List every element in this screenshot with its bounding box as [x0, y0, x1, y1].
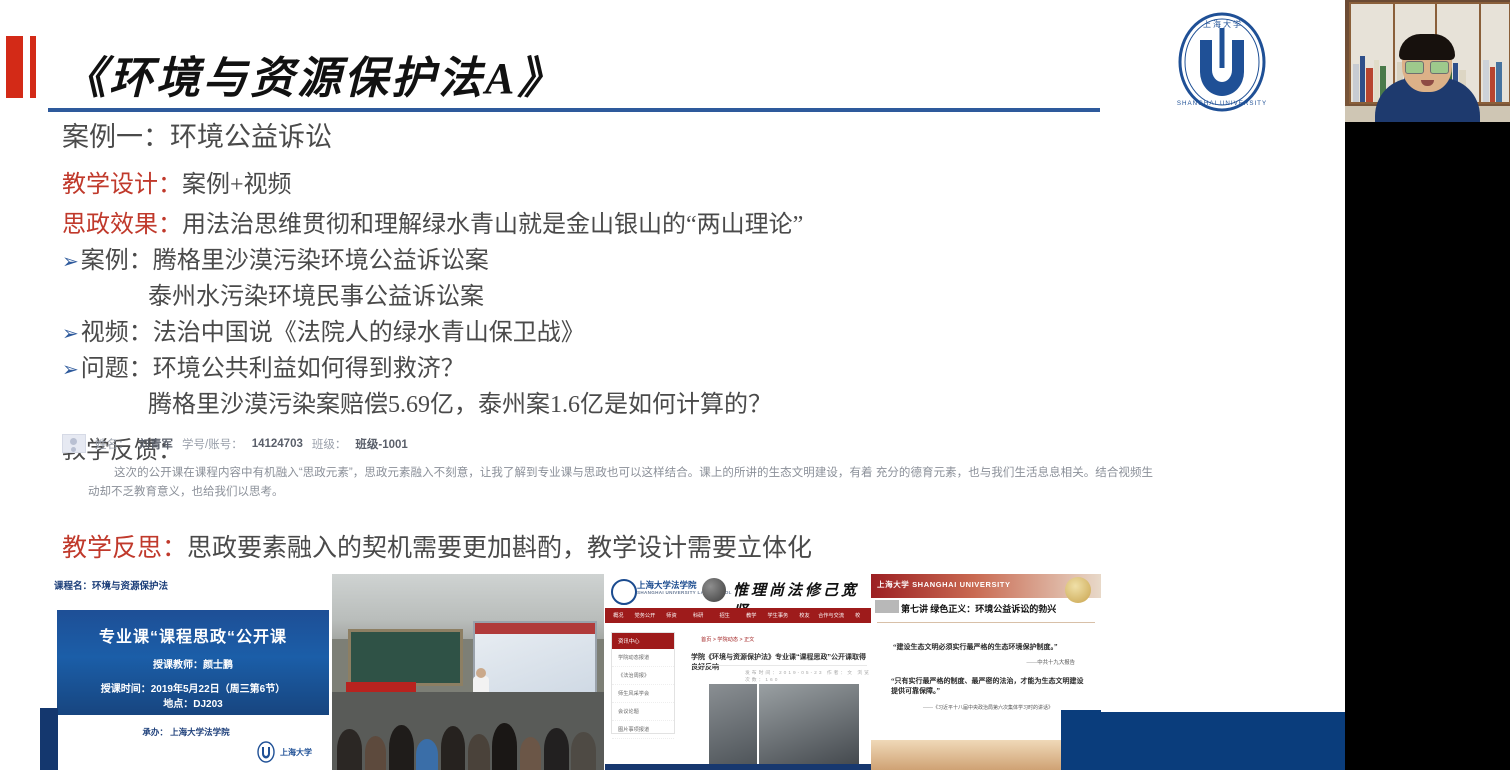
sidebar-item[interactable]: 师生风采学会 [612, 685, 674, 703]
webpage-article-photo-1 [709, 684, 757, 766]
nav-item[interactable]: 概况 [605, 612, 632, 619]
open-class-poster: 课程名：环境与资源保护法 专业课“课程思政“公开课 授课教师：颜士鹏 授课时间：… [40, 568, 332, 770]
bullet-video-label: 视频： [81, 320, 153, 346]
accent-bar-thick [6, 36, 23, 98]
presenter-video-feed[interactable] [1345, 0, 1510, 122]
poster-course-label: 课程名：环境与资源保护法 [54, 578, 168, 592]
student-id: 14124703 [252, 438, 303, 450]
student-name: 刘青军 [139, 436, 174, 452]
arrow-bullet-icon-3: ➢ [62, 359, 79, 381]
bullet-question-second-text: 腾格里沙漠污染案赔偿5.69亿，泰州案1.6亿是如何计算的？ [148, 392, 772, 418]
case-heading: 案例一：环境公益诉讼 [62, 124, 1292, 151]
student-avatar-icon [62, 434, 86, 453]
photo-screen-header [475, 623, 595, 634]
lecture-slide-quote-2: “只有实行最严格的制度、最严密的法治，才能为生态文明建设提供可靠保障。” [891, 676, 1089, 696]
photo-projector-screen [473, 621, 597, 696]
bullet-case-second: 泰州水污染环境民事公益诉讼案 [62, 285, 1292, 309]
lecture-slide-title: 第七讲 绿色正义：环境公益诉讼的勃兴 [901, 602, 1056, 615]
bullet-case-label: 案例： [81, 248, 153, 274]
svg-text:SHANGHAI UNIVERSITY: SHANGHAI UNIVERSITY [1177, 100, 1267, 107]
presentation-slide: 《环境与资源保护法A》 上 海 大 学 SHANGHAI UNIVERSITY … [0, 0, 1345, 770]
slide-title: 《环境与资源保护法A》 [62, 42, 564, 106]
nav-item[interactable]: 学生事务 [765, 612, 792, 619]
bullet-case-text: 腾格里沙漠污染环境公益诉讼案 [153, 248, 489, 274]
design-text: 案例+视频 [182, 172, 292, 198]
effect-text: 用法治思维贯彻和理解绿水青山就是金山银山的“两山理论” [182, 212, 803, 238]
webpage-article-photo-2 [759, 684, 859, 766]
poster-place: 地点：DJ203 [57, 695, 329, 710]
arrow-bullet-icon-2: ➢ [62, 323, 79, 345]
webpage-article-meta: 发布时间：2019-05-23 作者：文 浏览次数：160 [745, 669, 871, 683]
bullet-case-second-text: 泰州水污染环境民事公益诉讼案 [148, 284, 484, 310]
effect-line: 思政效果：用法治思维贯彻和理解绿水青山就是金山银山的“两山理论” [62, 213, 1292, 237]
svg-text:上 海 大 学: 上 海 大 学 [1203, 19, 1241, 29]
webpage-breadcrumb: 首页 > 学院动态 > 正文 [701, 636, 754, 643]
webpage-article-divider [691, 665, 867, 666]
class-label: 班级： [312, 436, 347, 452]
poster-headline: 专业课“课程思政“公开课 [57, 623, 329, 647]
nav-item[interactable]: 科研 [685, 612, 712, 619]
name-label: 姓名： [95, 436, 130, 452]
photo-blackboard [348, 629, 463, 686]
design-label: 教学设计： [62, 172, 182, 198]
lecture-slide-quote-2-source: ——《习近平十八届中央政治局第六次集体学习时的讲话》 [923, 704, 1053, 711]
effect-label: 思政效果： [62, 212, 182, 238]
student-info-row: 姓名： 刘青军 学号/账号： 14124703 班级： 班级-1001 [62, 434, 1192, 453]
sidebar-title: 资讯中心 [612, 633, 674, 649]
presenter-hair [1399, 34, 1455, 60]
webcam-panel [1345, 0, 1510, 770]
poster-university-logo: 上海大学 [256, 740, 318, 764]
sidebar-item[interactable]: 图片事项报道 [612, 721, 674, 739]
bullet-question: ➢问题：环境公共利益如何得到救济？ [62, 357, 1292, 381]
design-line: 教学设计：案例+视频 [62, 173, 1292, 197]
bullet-video: ➢视频：法治中国说《法院人的绿水青山保卫战》 [62, 321, 1292, 345]
sidebar-item[interactable]: 学院动态报道 [612, 649, 674, 667]
sidebar-item[interactable]: 《法治周报》 [612, 667, 674, 685]
slide-body: 案例一：环境公益诉讼 教学设计：案例+视频 思政效果：用法治思维贯彻和理解绿水青… [62, 118, 1292, 463]
nav-item[interactable]: 党务公开 [632, 612, 659, 619]
site-name-cn: 上海大学法学院 [637, 580, 697, 590]
screen: 《环境与资源保护法A》 上 海 大 学 SHANGHAI UNIVERSITY … [0, 0, 1510, 770]
title-divider [48, 108, 1100, 112]
feedback-comment: 这次的公开课在课程内容中有机融入“思政元素”，思政元素融入不刻意，让我了解到专业… [88, 464, 1153, 502]
bullet-question-second: 腾格里沙漠污染案赔偿5.69亿，泰州案1.6亿是如何计算的？ [62, 393, 1292, 417]
nav-item[interactable]: 合作与交流 [818, 612, 845, 619]
photo-audience [332, 692, 604, 770]
poster-host: 承办： 上海大学法学院 [40, 726, 332, 738]
poster-teacher: 授课教师：颜士鹏 [57, 656, 329, 671]
poster-datetime: 授课时间：2019年5月22日（周三第6节） [57, 680, 329, 695]
lecture-slide-quote-1-source: ——中共十九大报告 [1026, 658, 1075, 666]
lecture-slide-title-block [875, 600, 899, 613]
shanghai-university-logo: 上 海 大 学 SHANGHAI UNIVERSITY [1168, 10, 1276, 114]
bullet-case: ➢案例：腾格里沙漠污染环境公益诉讼案 [62, 249, 1292, 273]
lecture-slide-divider [877, 622, 1095, 623]
classroom-photo [332, 574, 604, 770]
nav-item[interactable]: 教学 [738, 612, 765, 619]
arrow-bullet-icon: ➢ [62, 251, 79, 273]
nav-item[interactable]: 校 [844, 612, 871, 619]
nav-item[interactable]: 校友 [791, 612, 818, 619]
bullet-question-label: 问题： [81, 356, 153, 382]
webpage-seal-icon [702, 578, 726, 602]
webpage-footer-band [605, 764, 871, 770]
feedback-comment-line1: 这次的公开课在课程内容中有机融入“思政元素”，思政元素融入不刻意，让我了解到专业… [88, 467, 873, 479]
lecture-slide-thumbnail: 上海大学 SHANGHAI UNIVERSITY 第七讲 绿色正义：环境公益诉讼… [871, 574, 1101, 770]
slide-bottom-blue-band [1101, 712, 1345, 770]
poster-side-band [40, 708, 58, 770]
id-label: 学号/账号： [182, 436, 243, 452]
lecture-slide-seal-icon [1065, 577, 1091, 603]
webpage-logo-icon [611, 579, 637, 605]
webpage-nav[interactable]: 概况 党务公开 师资 科研 招生 教学 学生事务 校友 合作与交流 校 [605, 608, 871, 623]
reflection-label: 教学反思： [62, 535, 187, 562]
title-accent-bars [6, 36, 36, 98]
lecture-slide-quote-1: “建设生态文明必须实行最严格的生态环境保护制度。” [893, 642, 1087, 652]
poster-logo-text: 上海大学 [280, 747, 312, 758]
presenter-glasses-icon [1405, 61, 1449, 72]
lecture-slide-brand: 上海大学 SHANGHAI UNIVERSITY [877, 579, 1011, 590]
nav-item[interactable]: 招生 [711, 612, 738, 619]
webpage-sidebar: 资讯中心 学院动态报道 《法治周报》 师生风采学会 会议论题 图片事项报道 [611, 632, 675, 734]
reflection-line: 教学反思：思政要素融入的契机需要更加斟酌，教学设计需要立体化 [62, 528, 812, 564]
reflection-text: 思政要素融入的契机需要更加斟酌，教学设计需要立体化 [187, 535, 812, 562]
bullet-video-text: 法治中国说《法院人的绿水青山保卫战》 [153, 320, 585, 346]
sidebar-item[interactable]: 会议论题 [612, 703, 674, 721]
student-feedback-screenshot: 姓名： 刘青军 学号/账号： 14124703 班级： 班级-1001 这次的公… [62, 434, 1192, 502]
law-school-webpage: 上海大学法学院 SHANGHAI UNIVERSITY LAW SCHOOL 惟… [605, 574, 871, 770]
lecture-slide-blue-corner [1061, 710, 1101, 770]
student-class: 班级-1001 [355, 436, 407, 452]
accent-bar-thin [30, 36, 36, 98]
nav-item[interactable]: 师资 [658, 612, 685, 619]
poster-card: 专业课“课程思政“公开课 授课教师：颜士鹏 授课时间：2019年5月22日（周三… [57, 610, 329, 715]
bullet-question-text: 环境公共利益如何得到救济？ [153, 356, 465, 382]
